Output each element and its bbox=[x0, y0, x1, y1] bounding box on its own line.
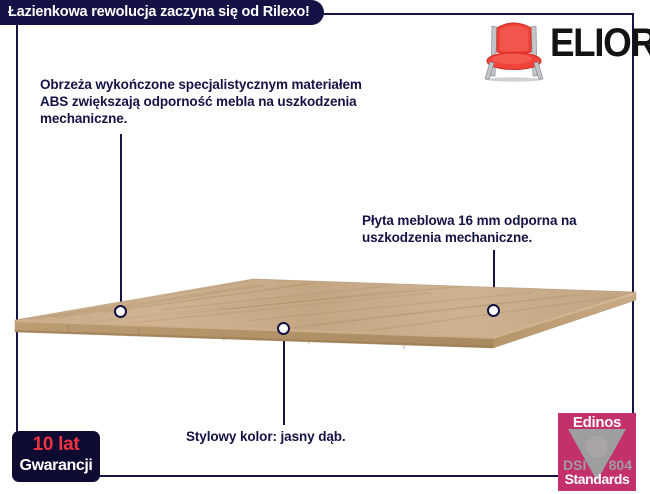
callout-edge-finish-text: Obrzeża wykończone specjalistycznym mate… bbox=[40, 76, 390, 127]
red-chair-icon bbox=[478, 16, 550, 82]
callout-marker-edge bbox=[114, 305, 127, 318]
callout-marker-board bbox=[487, 304, 500, 317]
certificate-badge: Edinos DSI 804 Standards bbox=[558, 413, 636, 491]
callout-board-thickness-text: Płyta meblowa 16 mm odporna na uszkodzen… bbox=[362, 212, 642, 246]
warranty-years: 10 lat bbox=[12, 434, 100, 456]
callout-marker-color bbox=[277, 322, 290, 335]
board-illustration bbox=[8, 262, 642, 372]
light-oak-board bbox=[8, 262, 642, 372]
brand-name: ELIOR bbox=[550, 21, 650, 66]
certificate-standards-label: Standards bbox=[558, 471, 636, 487]
warranty-badge: 10 lat Gwarancji bbox=[12, 431, 100, 482]
brand-logo: ELIOR bbox=[478, 16, 644, 82]
warranty-label: Gwarancji bbox=[12, 457, 100, 475]
promo-infographic: Łazienkowa rewolucja zaczyna się od Rile… bbox=[0, 0, 650, 494]
callout-color-text: Stylowy kolor: jasny dąb. bbox=[186, 428, 436, 445]
headline-banner: Łazienkowa rewolucja zaczyna się od Rile… bbox=[0, 0, 324, 25]
